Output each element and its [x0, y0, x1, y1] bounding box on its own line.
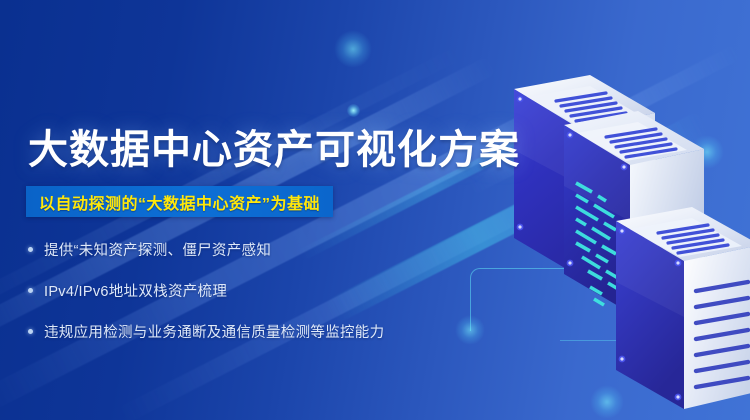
server-racks-illustration [430, 55, 750, 420]
list-item-label: IPv4/IPv6地址双栈资产梳理 [44, 280, 227, 301]
bullet-dot-icon [28, 288, 33, 293]
subtitle-band: 以自动探测的“大数据中心资产”为基础 [26, 186, 333, 217]
feature-list: 提供“未知资产探测、僵尸资产感知 IPv4/IPv6地址双栈资产梳理 违规应用检… [28, 236, 384, 359]
list-item-label: 违规应用检测与业务通断及通信质量检测等监控能力 [44, 321, 384, 342]
page-title: 大数据中心资产可视化方案 [28, 126, 520, 174]
bullet-dot-icon [28, 329, 33, 334]
glow-dot [334, 30, 372, 68]
bullet-dot-icon [28, 247, 33, 252]
banner-root: 大数据中心资产可视化方案 以自动探测的“大数据中心资产”为基础 提供“未知资产探… [0, 0, 750, 420]
subtitle-text: 以自动探测的“大数据中心资产”为基础 [39, 190, 320, 214]
glow-dot [347, 104, 360, 117]
rack-right [616, 207, 750, 409]
list-item: IPv4/IPv6地址双栈资产梳理 [28, 277, 384, 304]
list-item: 违规应用检测与业务通断及通信质量检测等监控能力 [28, 318, 384, 345]
list-item: 提供“未知资产探测、僵尸资产感知 [28, 236, 384, 263]
list-item-label: 提供“未知资产探测、僵尸资产感知 [44, 239, 271, 260]
